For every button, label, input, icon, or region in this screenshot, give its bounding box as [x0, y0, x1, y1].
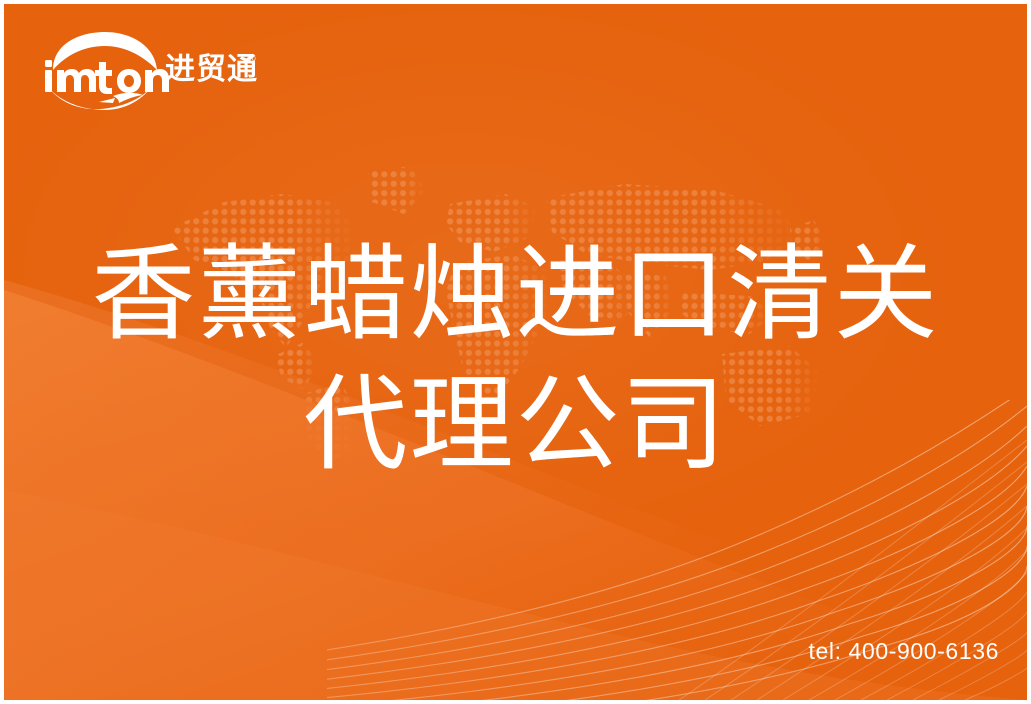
page-title-line-2: 代理公司: [4, 359, 1027, 489]
logo-wordmark-cn: 进贸通: [165, 54, 258, 86]
poster-root: 进贸通 ® 香薰蜡烛进口清关 代理公司 tel: 400-900-6136: [0, 0, 1031, 704]
registered-trademark-icon: ®: [246, 52, 257, 65]
page-title-line-1: 香薰蜡烛进口清关: [4, 229, 1027, 359]
contact-phone[interactable]: tel: 400-900-6136: [808, 638, 999, 665]
page-title: 香薰蜡烛进口清关 代理公司: [4, 229, 1027, 489]
globe-arc-logo-icon: [39, 30, 169, 110]
poster-canvas: 进贸通 ® 香薰蜡烛进口清关 代理公司 tel: 400-900-6136: [4, 4, 1027, 700]
brand-logo[interactable]: 进贸通 ®: [39, 30, 254, 110]
